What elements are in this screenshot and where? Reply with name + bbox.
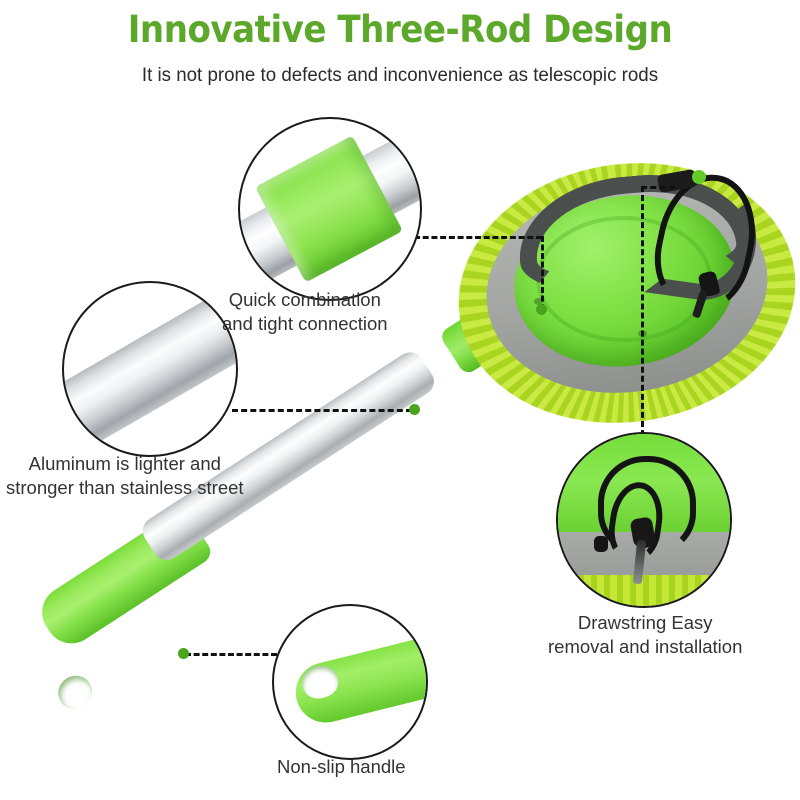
- leader-line-drawstring-v: [641, 186, 644, 436]
- caption-aluminum-line1: Aluminum is lighter and: [6, 452, 244, 476]
- hanging-hole: [52, 669, 98, 714]
- leader-line-drawstring-h: [641, 186, 675, 189]
- detail-circle-non-slip-handle: [272, 604, 428, 760]
- detail-circle-quick-combination: [238, 117, 422, 301]
- aluminum-rod-graphic: [62, 281, 238, 457]
- caption-drawstring-line1: Drawstring Easy: [548, 611, 742, 635]
- caption-quick-line2: and tight connection: [222, 312, 388, 336]
- mop-head: [462, 168, 792, 418]
- detail-circle-aluminum-rod: [62, 281, 238, 457]
- caption-drawstring-line2: removal and installation: [548, 635, 742, 659]
- leader-line-quick-h: [414, 236, 542, 239]
- cord-green-pip: [692, 170, 706, 184]
- marker-dot-quick: [536, 304, 547, 315]
- leader-line-aluminum: [232, 409, 412, 412]
- fringe-edge-graphic: [558, 575, 730, 606]
- caption-quick-line1: Quick combination: [222, 288, 388, 312]
- marker-dot-aluminum: [409, 404, 420, 415]
- caption-aluminum-line2: stronger than stainless street: [6, 476, 244, 500]
- drawstring-knot-graphic: [594, 536, 608, 552]
- product-infographic: Innovative Three-Rod Design It is not pr…: [0, 0, 800, 800]
- leader-line-quick-v: [541, 236, 544, 310]
- detail-circle-drawstring: [556, 432, 732, 608]
- leader-line-handle: [185, 653, 277, 656]
- caption-drawstring: Drawstring Easy removal and installation: [548, 611, 742, 660]
- caption-aluminum: Aluminum is lighter and stronger than st…: [6, 452, 244, 501]
- marker-dot-handle: [178, 648, 189, 659]
- caption-non-slip-handle: Non-slip handle: [277, 755, 406, 779]
- caption-quick-combination: Quick combination and tight connection: [222, 288, 388, 337]
- caption-handle-line1: Non-slip handle: [277, 755, 406, 779]
